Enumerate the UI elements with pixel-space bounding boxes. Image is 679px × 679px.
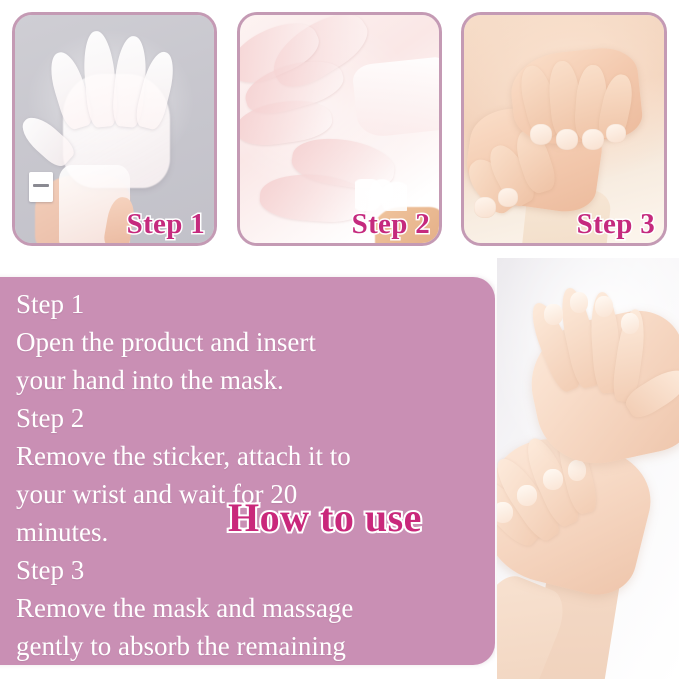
- hero-fingernail: [568, 460, 586, 481]
- hero-fingernail: [595, 296, 613, 317]
- glove-cuff-shape: [352, 56, 439, 138]
- step-card-1: Step 1: [12, 12, 217, 246]
- steps-row: Step 1 Step 2: [0, 0, 679, 258]
- hero-fingernail: [517, 485, 537, 506]
- fingernail: [474, 197, 496, 218]
- instructions-paragraph: Step 1 Open the product and insert your …: [16, 285, 476, 679]
- step-card-2: Step 2: [237, 12, 442, 246]
- step-card-3: Step 3: [461, 12, 667, 246]
- product-sticker-tag: [29, 172, 53, 202]
- hero-fingernail: [621, 313, 639, 334]
- fingernail: [498, 188, 518, 206]
- fingernail: [556, 129, 578, 150]
- sticker-dots: [355, 179, 407, 211]
- step-badge-1: Step 1: [127, 208, 205, 241]
- instructions-panel: Step 1 Open the product and insert your …: [0, 277, 495, 665]
- instructions-body: Step 1 Open the product and insert your …: [16, 285, 476, 679]
- step-badge-2: Step 2: [352, 208, 430, 241]
- hero-fingernail: [570, 292, 588, 313]
- how-to-use-headline: How to use: [228, 494, 422, 541]
- hero-fingernail: [544, 304, 562, 325]
- hero-fingernail: [543, 469, 563, 490]
- fingernail: [606, 124, 626, 142]
- how-to-use-infographic: Step 1 Step 2: [0, 0, 679, 679]
- fingernail: [582, 129, 604, 150]
- step-badge-3: Step 3: [577, 208, 655, 241]
- hero-photo: [497, 258, 679, 679]
- fingernail: [530, 124, 552, 145]
